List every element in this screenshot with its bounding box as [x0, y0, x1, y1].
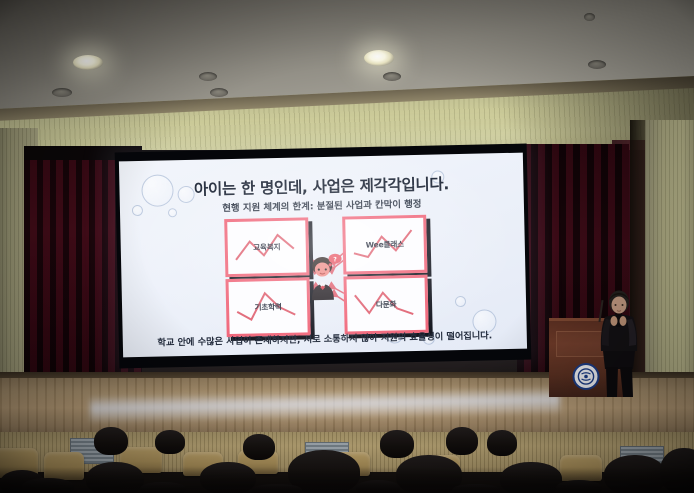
svg-text:?: ?: [333, 256, 337, 263]
audience-member: [243, 434, 275, 460]
audience-foreground-shadow: [0, 467, 694, 493]
diagram-box-label: 다문화: [347, 298, 425, 311]
downlight-3-icon: [199, 72, 217, 81]
diagram-box-label: 교육복지: [228, 241, 306, 254]
diagram-box-education-welfare[interactable]: 교육복지: [224, 217, 309, 277]
diagram-box-multicultural[interactable]: 다문화: [343, 275, 428, 335]
audience-member: [94, 427, 128, 455]
downlight-6-icon: [383, 72, 401, 81]
downlight-2-icon: [52, 88, 72, 97]
downlight-4-icon: [210, 88, 228, 97]
projection-screen: 아이는 한 명인데, 사업은 제각각입니다. 현행 지원 체계의 한계: 분절된…: [115, 144, 532, 369]
slide-bubble-decorations: [119, 153, 523, 162]
downlight-1-icon: [73, 55, 103, 70]
slide-diagram: 교육복지 Wee클래스 기초학력: [120, 211, 526, 338]
downlight-5-icon: [364, 50, 394, 66]
audience-member: [380, 430, 414, 458]
smoke-detector-icon: [584, 13, 595, 21]
diagram-box-label: Wee클래스: [346, 238, 424, 251]
audience-member: [446, 427, 478, 455]
student-character-icon: ?: [299, 253, 346, 302]
audience-member: [155, 430, 185, 454]
right-wall-pillar: [645, 120, 694, 410]
diagram-box-label: 기초학력: [229, 301, 307, 314]
audience-member: [487, 430, 517, 456]
diagram-box-basic-academic[interactable]: 기초학력: [225, 277, 310, 337]
downlight-7-icon: [588, 60, 606, 69]
auditorium-scene: 아이는 한 명인데, 사업은 제각각입니다. 현행 지원 체계의 한계: 분절된…: [0, 0, 694, 493]
diagram-box-wee-class[interactable]: Wee클래스: [342, 215, 427, 275]
presentation-slide: 아이는 한 명인데, 사업은 제각각입니다. 현행 지원 체계의 한계: 분절된…: [119, 153, 527, 358]
presenter: [592, 287, 646, 399]
